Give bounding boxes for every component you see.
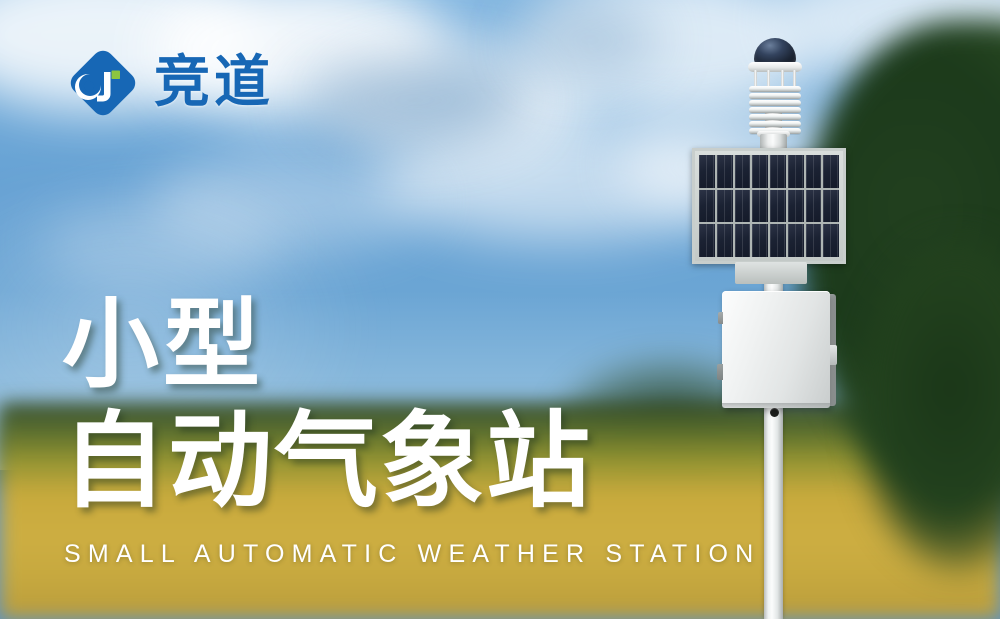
hero-subtitle: SMALL AUTOMATIC WEATHER STATION: [64, 540, 760, 569]
solar-panel-bracket-icon: [735, 262, 807, 284]
page-title-line1: 小型: [62, 296, 592, 393]
pole-cable-hole-icon: [770, 408, 779, 417]
control-box-icon: 环境监测站 竞道: [722, 291, 830, 408]
control-box-left-tab-icon: [717, 364, 723, 380]
brand-logo[interactable]: 竞道: [66, 46, 274, 120]
solar-panel-icon: [692, 148, 846, 264]
page-title-line2: 自动气象站: [62, 409, 592, 513]
solar-cell-grid: [699, 155, 839, 257]
jingdao-diamond-logo-icon: [66, 46, 140, 120]
product-hero-banner: 竞道 小型 自动气象站 SMALL AUTOMATIC WEATHER STAT…: [0, 0, 1000, 619]
cloud-shadow-icon: [300, 60, 530, 140]
control-box-left-tab-icon: [718, 312, 723, 324]
brand-name: 竞道: [154, 55, 274, 111]
control-box-bottom-edge: [722, 403, 830, 408]
hero-headline: 小型 自动气象站: [62, 296, 592, 513]
cloud-shadow-icon: [520, 10, 660, 70]
control-box-right-tab-icon: [830, 345, 837, 365]
